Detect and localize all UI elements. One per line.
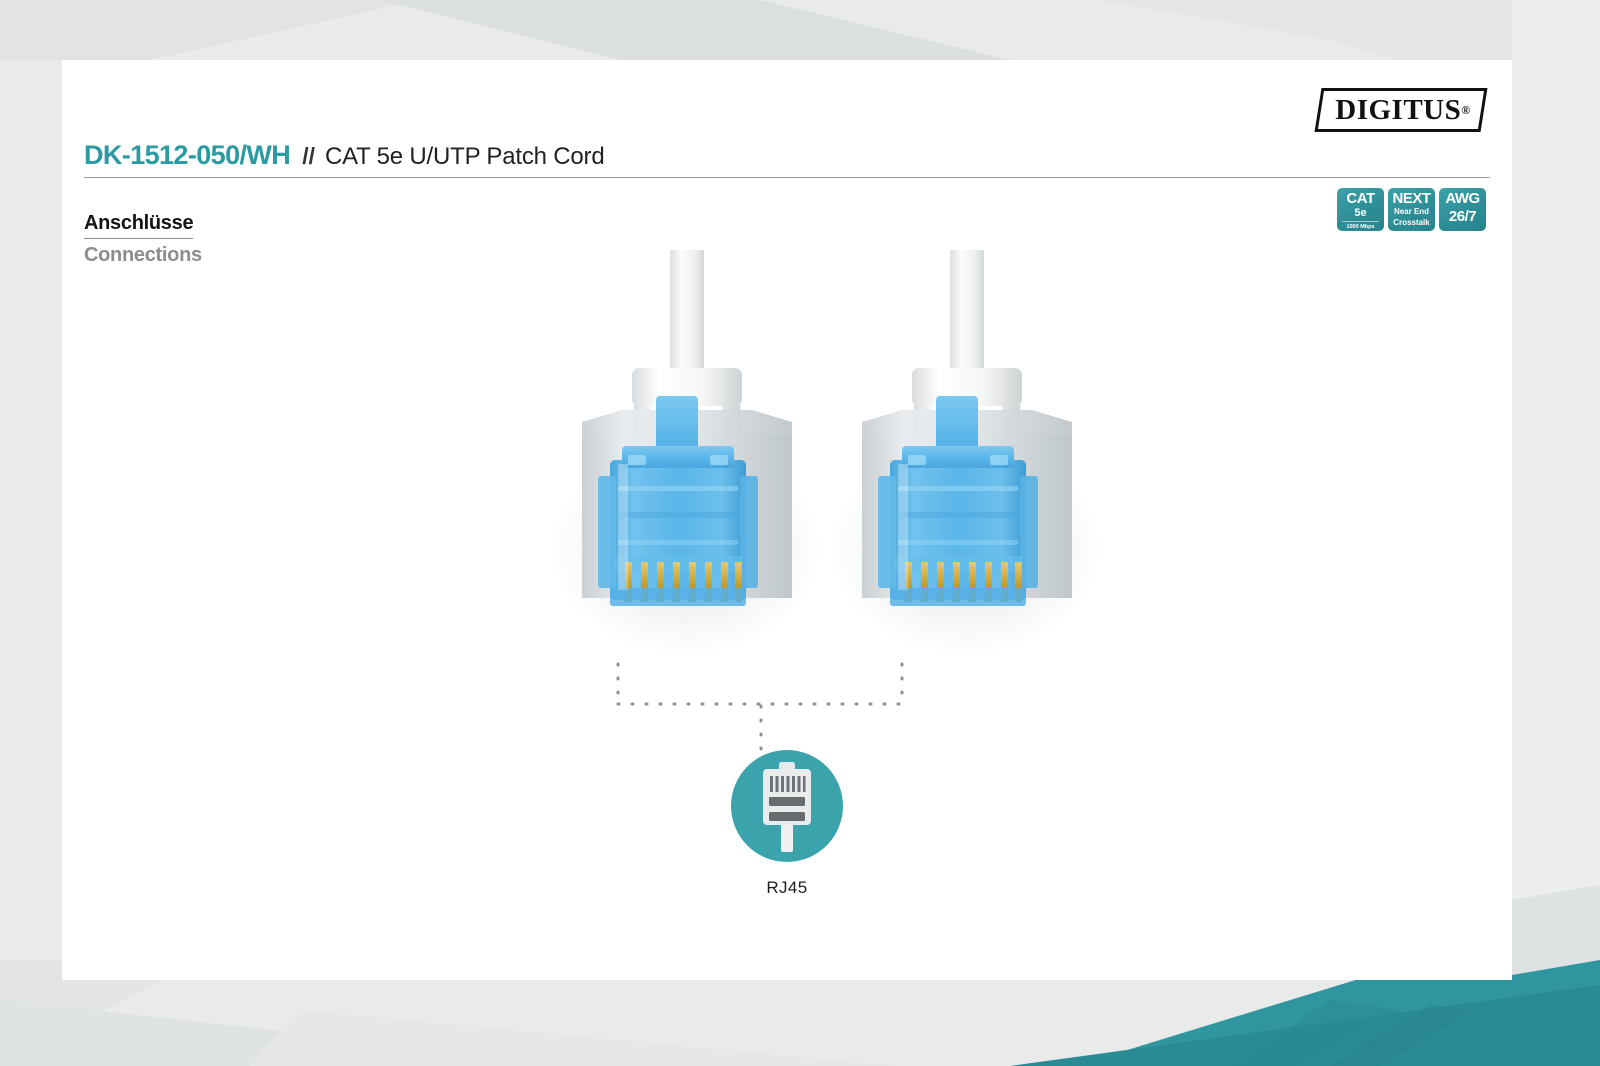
product-description: CAT 5e U/UTP Patch Cord [325,143,605,170]
connector-left [551,250,821,655]
badge-awg: AWG 26/7 [1439,188,1486,231]
product-sku: DK-1512-050/WH [84,140,290,170]
product-photo [62,250,1512,680]
badge-awg-line1: AWG [1445,191,1479,206]
connector-type-group: RJ45 [62,750,1512,898]
badge-awg-line2: 26/7 [1449,209,1476,224]
spec-badge-row: CAT 5e 1000 Mbps NEXT Near End Crosstalk… [1337,188,1486,231]
badge-next-line2: Near End [1394,208,1429,217]
title-divider [84,177,1490,178]
badge-cat-line1: CAT [1346,191,1374,206]
badge-next-line1: NEXT [1392,191,1430,206]
content-card: DIGITUS® DK-1512-050/WH//CAT 5e U/UTP Pa… [62,60,1512,980]
badge-cat: CAT 5e 1000 Mbps [1337,188,1384,231]
rj45-connectors-illustration [62,250,1512,680]
badge-cat-line2: 5e [1354,207,1366,219]
logo-wordmark: DIGITUS® [1318,88,1484,132]
badge-next: NEXT Near End Crosstalk [1388,188,1435,231]
rj45-icon-badge [731,750,843,862]
badge-next-line3: Crosstalk [1393,219,1429,228]
connector-type-label: RJ45 [766,878,807,898]
registered-trademark-icon: ® [1461,103,1470,118]
rj45-plug-icon [748,760,826,852]
logo-wordmark-text: DIGITUS [1335,94,1461,127]
title-separator: // [302,143,315,169]
badge-cat-line3: 1000 Mbps [1342,221,1379,230]
dotted-bracket [62,640,1512,760]
product-title: DK-1512-050/WH//CAT 5e U/UTP Patch Cord [84,140,1490,177]
digitus-logo: DIGITUS® [1318,88,1484,132]
title-block: DK-1512-050/WH//CAT 5e U/UTP Patch Cord [84,140,1490,178]
section-heading-de: Anschlüsse [84,212,193,239]
dotted-connector-lines [62,640,1512,760]
connector-right [831,250,1101,655]
